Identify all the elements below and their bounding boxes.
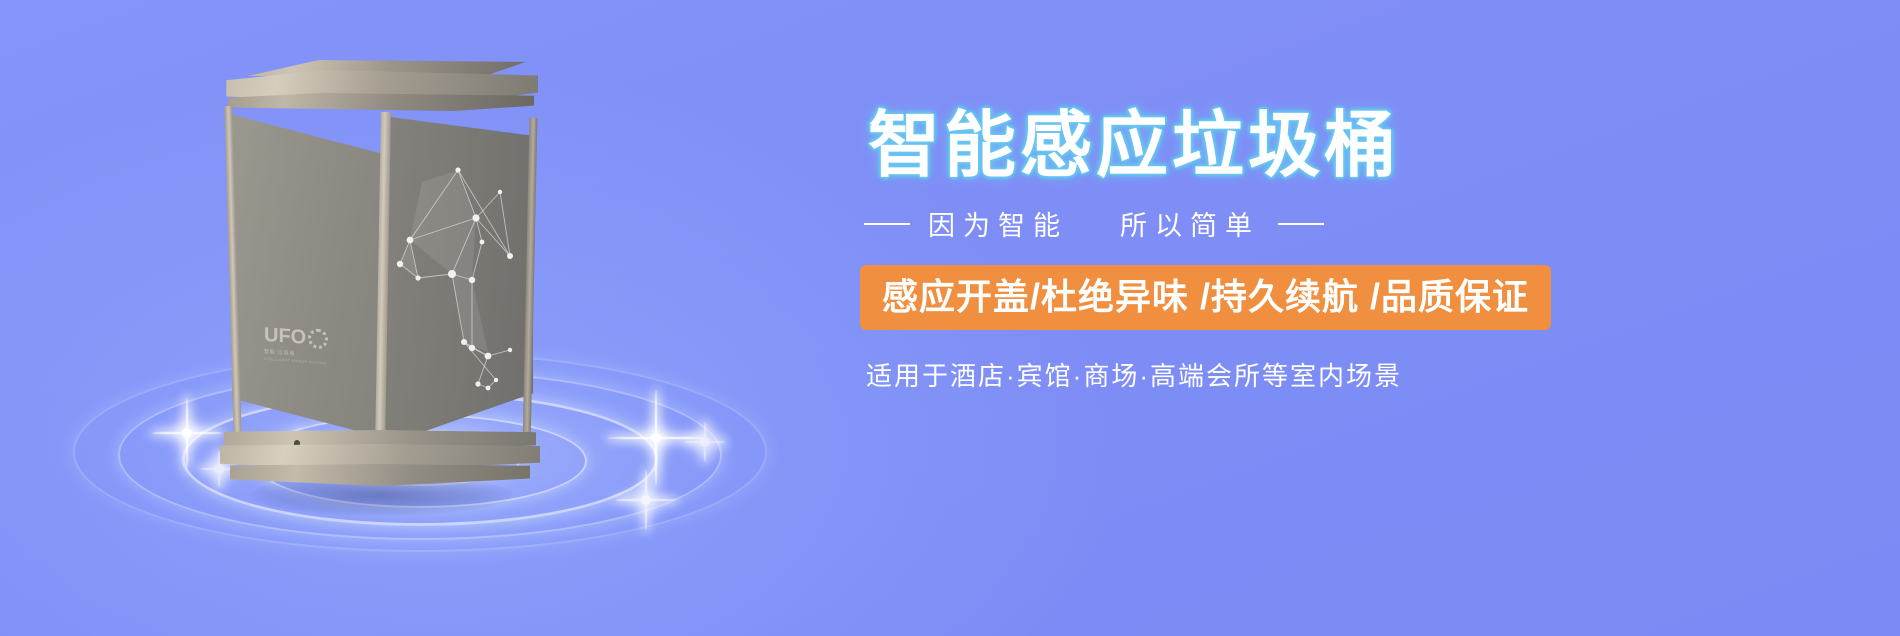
gear-icon [308,328,328,349]
product-stage: UFO 智能 垃圾桶 INTELLIGENT SENSOR DUSTBIN [60,20,780,620]
sparkle-icon [616,470,676,530]
subline-dash-right [1278,223,1324,225]
product-image-trash-bin: UFO 智能 垃圾桶 INTELLIGENT SENSOR DUSTBIN [220,60,540,460]
subline-part-one: 因为智能 [928,204,1068,243]
subline: 因为智能 所以简单 [864,204,1650,243]
subline-part-two: 所以简单 [1120,204,1260,243]
subline-dash-left [864,223,910,225]
copy-column: 智能感应垃圾桶 因为智能 所以简单 感应开盖/杜绝异味 /持久续航 /品质保证 … [860,110,1650,393]
promo-banner: UFO 智能 垃圾桶 INTELLIGENT SENSOR DUSTBIN 智能… [0,0,1900,636]
logo-wordmark: UFO [264,325,306,348]
sparkle-icon [685,422,725,462]
sparkle-icon [608,390,704,486]
sparkle-icon [152,398,222,468]
headline: 智能感应垃圾桶 [868,110,1650,182]
feature-bar: 感应开盖/杜绝异味 /持久续航 /品质保证 [860,265,1551,330]
bin-left-panel [232,108,384,438]
bin-lid-lip [222,93,534,111]
scene-line: 适用于酒店·宾馆·商场·高端会所等室内场景 [866,356,1650,393]
constellation-graphic [392,152,528,402]
product-logo: UFO 智能 垃圾桶 INTELLIGENT SENSOR DUSTBIN [264,325,350,387]
